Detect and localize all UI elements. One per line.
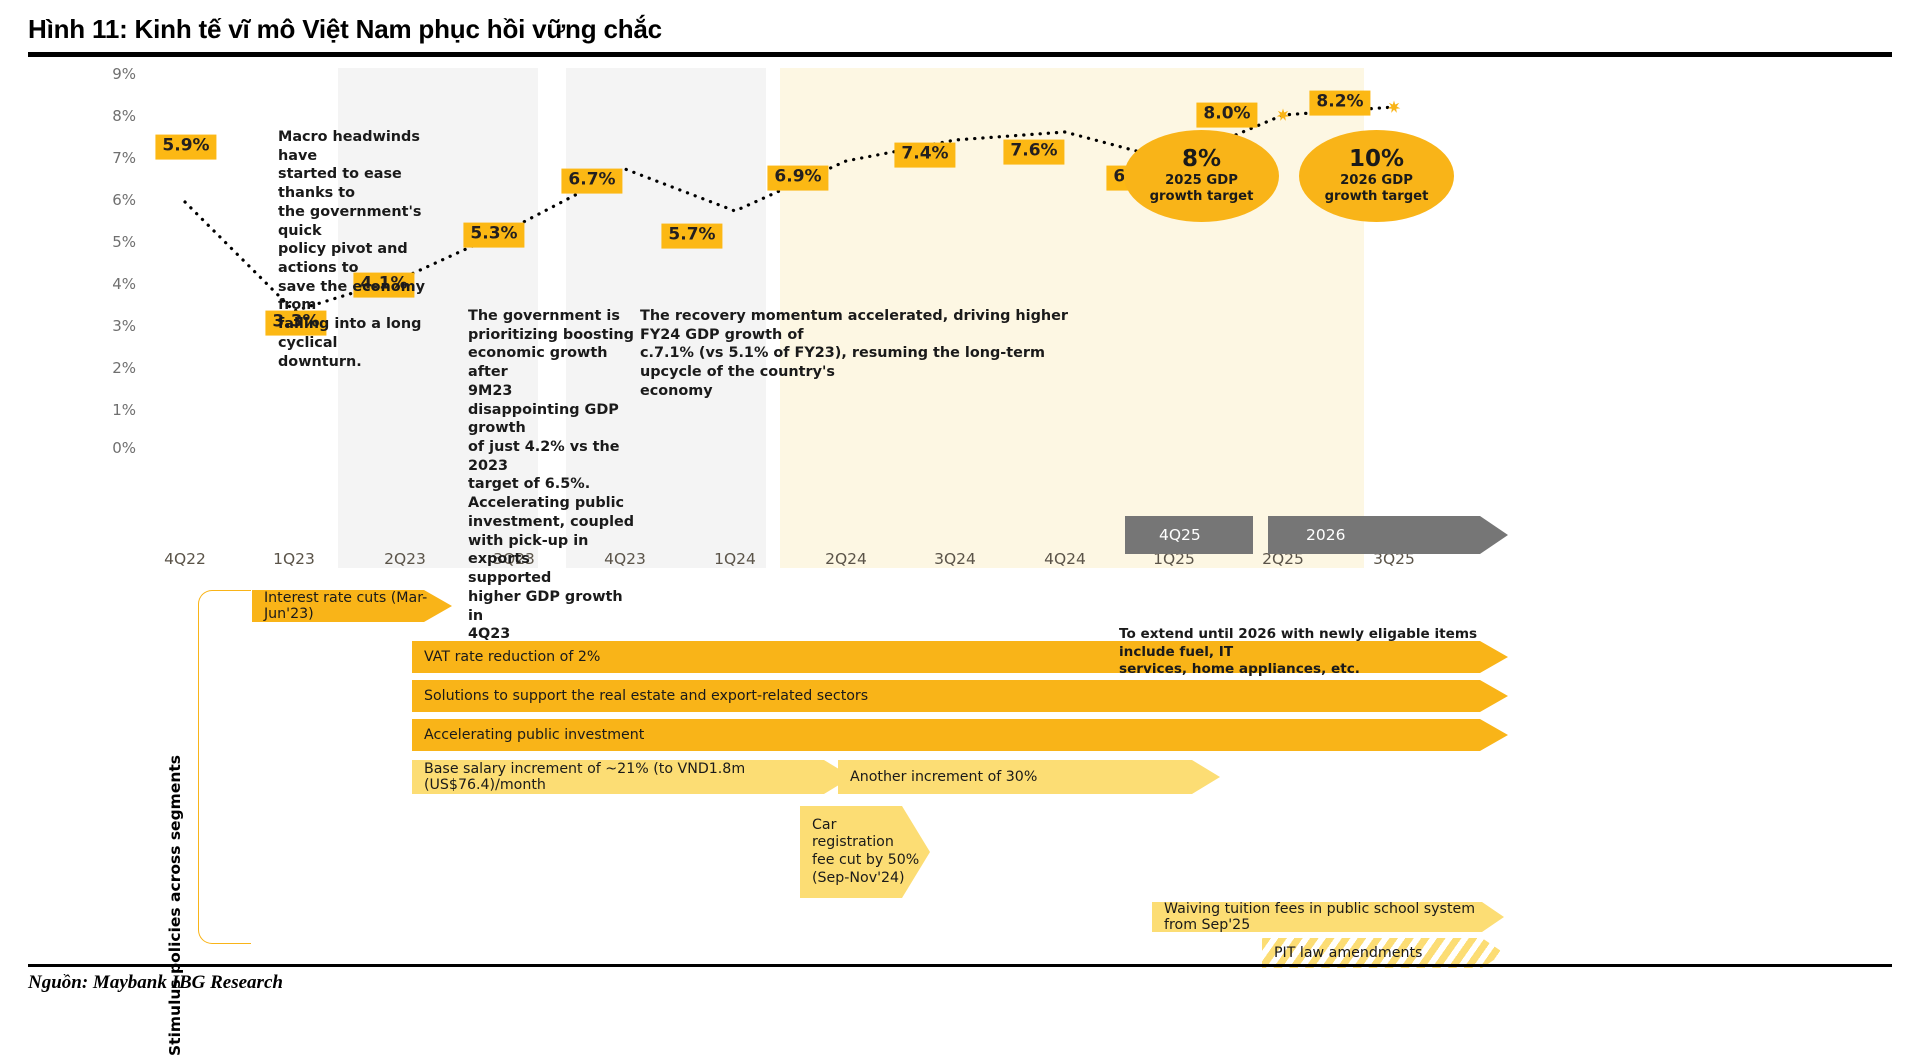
stimulus-section: Stimulus policies across segments Intere…	[0, 576, 1920, 976]
page-title: Hình 11: Kinh tế vĩ mô Việt Nam phục hồi…	[28, 14, 1892, 45]
policy-arrow-base-salary: Base salary increment of ~21% (to VND1.8…	[412, 760, 852, 794]
forecast-arrow-2026-label: 2026	[1268, 526, 1345, 544]
policy-label-base-salary: Base salary increment of ~21% (to VND1.8…	[412, 761, 852, 793]
policy-arrow-real-estate-export: Solutions to support the real estate and…	[412, 680, 1508, 712]
policy-arrow-another-increment: Another increment of 30%	[838, 760, 1220, 794]
data-label-2q24: 6.9%	[767, 166, 828, 191]
forecast-arrow-4q25: 4Q25	[1125, 516, 1253, 554]
policy-label-car-registration-fee: Car registration fee cut by 50% (Sep-Nov…	[800, 817, 929, 888]
callout-2025-gdp-target: 8% 2025 GDP growth target	[1124, 130, 1279, 222]
x-tick-4q24: 4Q24	[1044, 550, 1086, 568]
x-tick-3q24: 3Q24	[934, 550, 976, 568]
forecast-arrow-4q25-label: 4Q25	[1125, 526, 1201, 544]
stimulus-bracket	[198, 590, 251, 944]
data-label-3q25: 8.2%	[1309, 91, 1370, 116]
data-label-3q23: 5.3%	[463, 223, 524, 248]
annotation-macro-headwinds: Macro headwinds have started to ease tha…	[278, 128, 446, 371]
callout-2025-label-2: growth target	[1150, 189, 1254, 205]
title-bar: Hình 11: Kinh tế vĩ mô Việt Nam phục hồi…	[28, 14, 1892, 45]
policy-label-another-increment: Another increment of 30%	[838, 769, 1047, 785]
policy-arrow-car-registration-fee: Car registration fee cut by 50% (Sep-Nov…	[800, 806, 930, 898]
data-label-4q23: 6.7%	[561, 169, 622, 194]
source-note: Nguồn: Maybank IBG Research	[28, 972, 283, 994]
callout-2026-label-2: growth target	[1325, 189, 1429, 205]
callout-2026-value: 10%	[1349, 148, 1404, 171]
policy-label-tuition-waiver: Waiving tuition fees in public school sy…	[1152, 901, 1504, 933]
policy-arrow-tuition-waiver: Waiving tuition fees in public school sy…	[1152, 902, 1504, 932]
title-divider	[28, 52, 1892, 57]
x-tick-2q23: 2Q23	[384, 550, 426, 568]
stimulus-axis-label: Stimulus policies across segments	[166, 755, 184, 1056]
x-tick-4q22: 4Q22	[164, 550, 206, 568]
data-label-2q25: 8.0%	[1196, 103, 1257, 128]
forecast-arrow-2026: 2026	[1268, 516, 1508, 554]
policy-label-pit-law: PIT law amendments	[1262, 945, 1432, 961]
source-divider	[28, 964, 1892, 967]
chart-plot-area: 0% 1% 2% 3% 4% 5% 6% 7% 8% 9% 5.9% 3.3% …	[0, 68, 1920, 568]
policy-note-vat-extension: To extend until 2026 with newly eligable…	[1119, 626, 1519, 679]
data-label-1q24: 5.7%	[661, 224, 722, 249]
policy-arrow-public-investment: Accelerating public investment	[412, 719, 1508, 751]
x-tick-1q24: 1Q24	[714, 550, 756, 568]
annotation-recovery-momentum: The recovery momentum accelerated, drivi…	[640, 307, 1100, 401]
policy-label-public-investment: Accelerating public investment	[412, 727, 654, 743]
callout-2025-label-1: 2025 GDP	[1165, 173, 1238, 189]
data-label-3q24: 7.4%	[894, 143, 955, 168]
policy-label-real-estate-export: Solutions to support the real estate and…	[412, 688, 878, 704]
figure-root: Hình 11: Kinh tế vĩ mô Việt Nam phục hồi…	[0, 0, 1920, 1026]
data-label-4q24: 7.6%	[1003, 140, 1064, 165]
x-tick-2q24: 2Q24	[825, 550, 867, 568]
data-label-4q22: 5.9%	[155, 135, 216, 160]
policy-label-vat-reduction: VAT rate reduction of 2%	[412, 649, 610, 665]
policy-arrow-interest-rate-cuts: Interest rate cuts (Mar- Jun'23)	[252, 590, 452, 622]
callout-2026-label-1: 2026 GDP	[1340, 173, 1413, 189]
policy-label-interest-rate-cuts: Interest rate cuts (Mar- Jun'23)	[252, 590, 452, 622]
x-tick-1q23: 1Q23	[273, 550, 315, 568]
callout-2026-gdp-target: 10% 2026 GDP growth target	[1299, 130, 1454, 222]
callout-2025-value: 8%	[1182, 148, 1221, 171]
